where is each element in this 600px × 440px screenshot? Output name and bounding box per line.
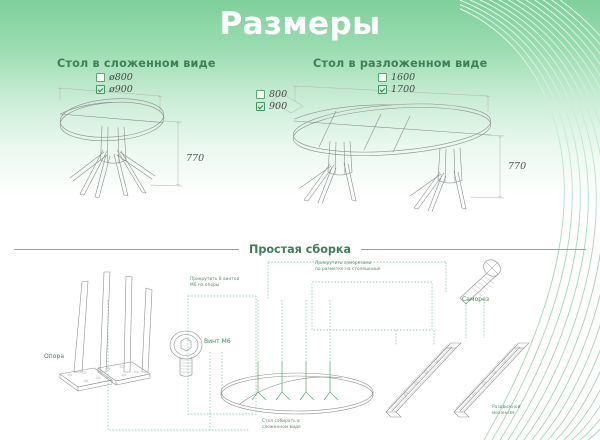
option-label: ø800: [109, 72, 133, 83]
option-row[interactable]: 800: [256, 89, 287, 100]
checkbox-unchecked-icon[interactable]: [96, 73, 105, 82]
option-label: 800: [269, 89, 287, 100]
section-heading-unfolded: Стол в разложенном виде: [313, 57, 487, 70]
option-group-folded-diameter: ø800 ø900: [96, 72, 133, 96]
part-label-self-tapper: Саморез: [462, 296, 489, 305]
option-group-unfolded-width: 800 900: [256, 89, 287, 113]
annotation-assemble-folded: Стол собирать в сложенном виде: [262, 419, 301, 431]
option-label: 1600: [391, 72, 415, 83]
checkbox-checked-icon[interactable]: [96, 85, 105, 94]
option-row[interactable]: 900: [256, 101, 287, 112]
option-label: ø900: [109, 84, 133, 95]
annotation-self-tapping: Прикрутить саморезами по разметке на сто…: [315, 261, 381, 273]
dimension-height-folded: 770: [186, 153, 204, 164]
checkbox-unchecked-icon[interactable]: [378, 73, 387, 82]
annotation-screws: Прикрутить 8 винтов М6 на опоры: [190, 277, 239, 289]
dimension-height-unfolded: 770: [508, 161, 526, 172]
checkbox-checked-icon[interactable]: [378, 85, 387, 94]
option-row[interactable]: ø800: [96, 72, 133, 83]
part-label-bolt: Винт М6: [204, 338, 231, 347]
annotation-mechanism: Раздвижной механизм: [492, 405, 520, 417]
option-row[interactable]: ø900: [96, 84, 133, 95]
page-title: Размеры: [0, 6, 600, 42]
option-row[interactable]: 1600: [378, 72, 415, 83]
section-heading-folded: Стол в сложенном виде: [57, 57, 216, 70]
poster-page: Размеры Стол в сложенном виде Стол в раз…: [0, 0, 600, 440]
checkbox-unchecked-icon[interactable]: [256, 90, 265, 99]
option-label: 1700: [391, 84, 415, 95]
divider-line-left: [14, 249, 239, 250]
divider-line-right: [361, 249, 586, 250]
option-label: 900: [269, 101, 287, 112]
assembly-divider-caption: Простая сборка: [239, 243, 361, 256]
option-row[interactable]: 1700: [378, 84, 415, 95]
option-group-unfolded-length: 1600 1700: [378, 72, 415, 96]
checkbox-checked-icon[interactable]: [256, 102, 265, 111]
assembly-divider: Простая сборка: [0, 241, 600, 257]
part-label-support: Опора: [44, 353, 64, 362]
